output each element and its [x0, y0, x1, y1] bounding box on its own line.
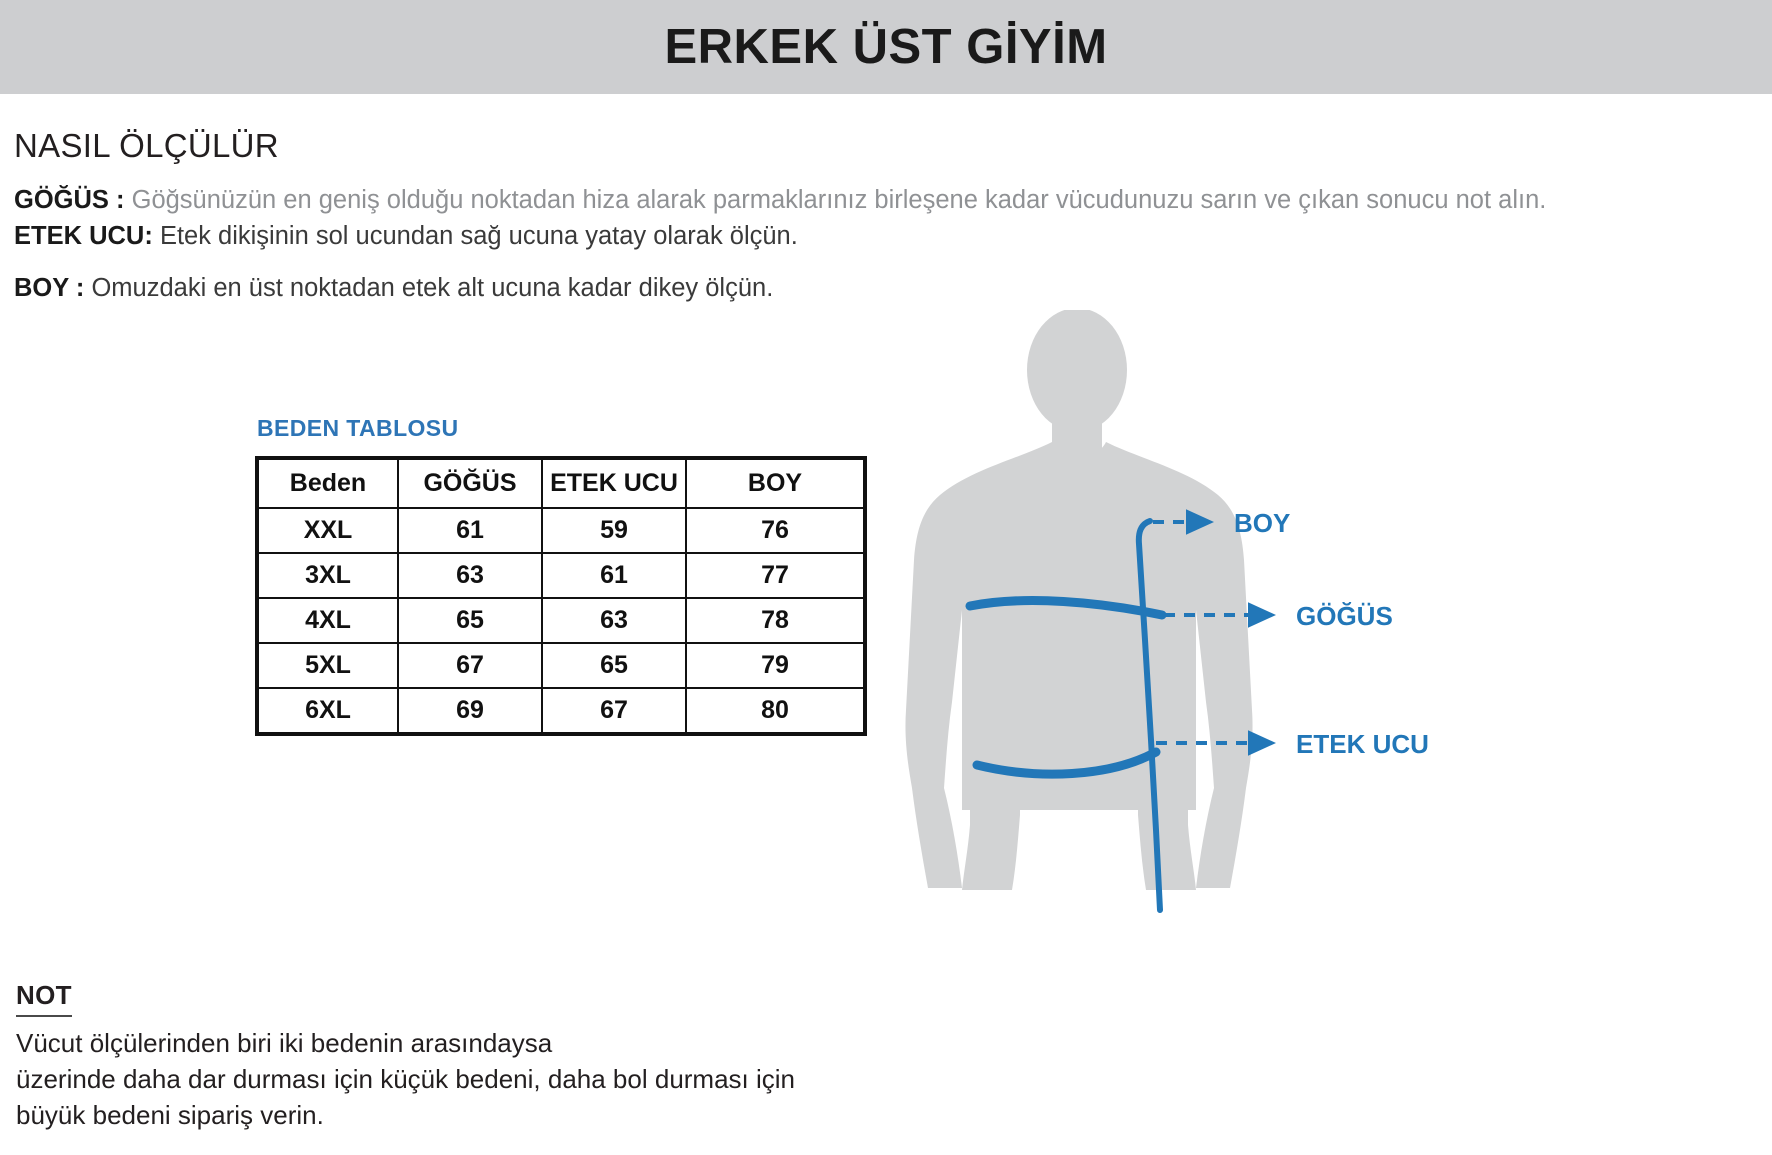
table-row: 5XL 67 65 79 — [257, 643, 865, 688]
table-header-row: Beden GÖĞÜS ETEK UCU BOY — [257, 458, 865, 508]
how-to-measure-heading: NASIL ÖLÇÜLÜR — [14, 128, 1760, 164]
note-line: üzerinde daha dar durması için küçük bed… — [16, 1061, 1016, 1097]
cell-gogus: 61 — [398, 508, 542, 553]
cell-boy: 77 — [686, 553, 865, 598]
instruction-text-boy: Omuzdaki en üst noktadan etek alt ucuna … — [91, 274, 773, 302]
cell-etek-ucu: 59 — [542, 508, 686, 553]
size-table-caption: BEDEN TABLOSU — [257, 415, 867, 442]
cell-boy: 78 — [686, 598, 865, 643]
note-title: NOT — [16, 980, 72, 1017]
page-title: ERKEK ÜST GİYİM — [664, 19, 1107, 75]
cell-beden: 3XL — [257, 553, 398, 598]
note-line: Vücut ölçülerinden biri iki bedenin aras… — [16, 1025, 1016, 1061]
cell-beden: XXL — [257, 508, 398, 553]
table-header-etek-ucu: ETEK UCU — [542, 458, 686, 508]
table-header-gogus: GÖĞÜS — [398, 458, 542, 508]
instruction-label-gogus: GÖĞÜS : — [14, 186, 125, 214]
size-table: Beden GÖĞÜS ETEK UCU BOY XXL 61 59 76 3X… — [255, 456, 867, 736]
table-row: 4XL 65 63 78 — [257, 598, 865, 643]
instruction-text-gogus: Göğsünüzün en geniş olduğu noktadan hiza… — [132, 186, 1547, 214]
cell-beden: 6XL — [257, 688, 398, 734]
table-header-beden: Beden — [257, 458, 398, 508]
diagram-label-boy: BOY — [1234, 508, 1290, 538]
diagram-label-gogus: GÖĞÜS — [1296, 601, 1393, 631]
cell-beden: 5XL — [257, 643, 398, 688]
table-header-boy: BOY — [686, 458, 865, 508]
cell-boy: 80 — [686, 688, 865, 734]
instruction-label-boy: BOY : — [14, 274, 84, 302]
cell-etek-ucu: 67 — [542, 688, 686, 734]
instruction-row-boy: BOY : Omuzdaki en üst noktadan etek alt … — [14, 270, 1760, 306]
page-header-band: ERKEK ÜST GİYİM — [0, 0, 1772, 94]
table-row: 6XL 69 67 80 — [257, 688, 865, 734]
note-line: büyük bedeni sipariş verin. — [16, 1097, 1016, 1133]
cell-gogus: 69 — [398, 688, 542, 734]
how-to-measure-section: NASIL ÖLÇÜLÜR GÖĞÜS : Göğsünüzün en geni… — [14, 128, 1760, 306]
table-row: XXL 61 59 76 — [257, 508, 865, 553]
cell-boy: 79 — [686, 643, 865, 688]
cell-boy: 76 — [686, 508, 865, 553]
measurement-diagram: BOY GÖĞÜS ETEK UCU — [900, 310, 1772, 930]
cell-etek-ucu: 63 — [542, 598, 686, 643]
size-table-block: BEDEN TABLOSU Beden GÖĞÜS ETEK UCU BOY X… — [255, 415, 867, 736]
instruction-row-gogus: GÖĞÜS : Göğsünüzün en geniş olduğu nokta… — [14, 182, 1760, 218]
cell-etek-ucu: 65 — [542, 643, 686, 688]
cell-beden: 4XL — [257, 598, 398, 643]
table-row: 3XL 63 61 77 — [257, 553, 865, 598]
note-section: NOT Vücut ölçülerinden biri iki bedenin … — [16, 980, 1016, 1133]
cell-gogus: 63 — [398, 553, 542, 598]
instruction-text-etek-ucu: Etek dikişinin sol ucundan sağ ucuna yat… — [160, 222, 798, 250]
cell-gogus: 67 — [398, 643, 542, 688]
cell-gogus: 65 — [398, 598, 542, 643]
instruction-row-etek-ucu: ETEK UCU: Etek dikişinin sol ucundan sağ… — [14, 218, 1760, 254]
diagram-label-etek-ucu: ETEK UCU — [1296, 729, 1429, 759]
instruction-label-etek-ucu: ETEK UCU: — [14, 222, 153, 250]
cell-etek-ucu: 61 — [542, 553, 686, 598]
